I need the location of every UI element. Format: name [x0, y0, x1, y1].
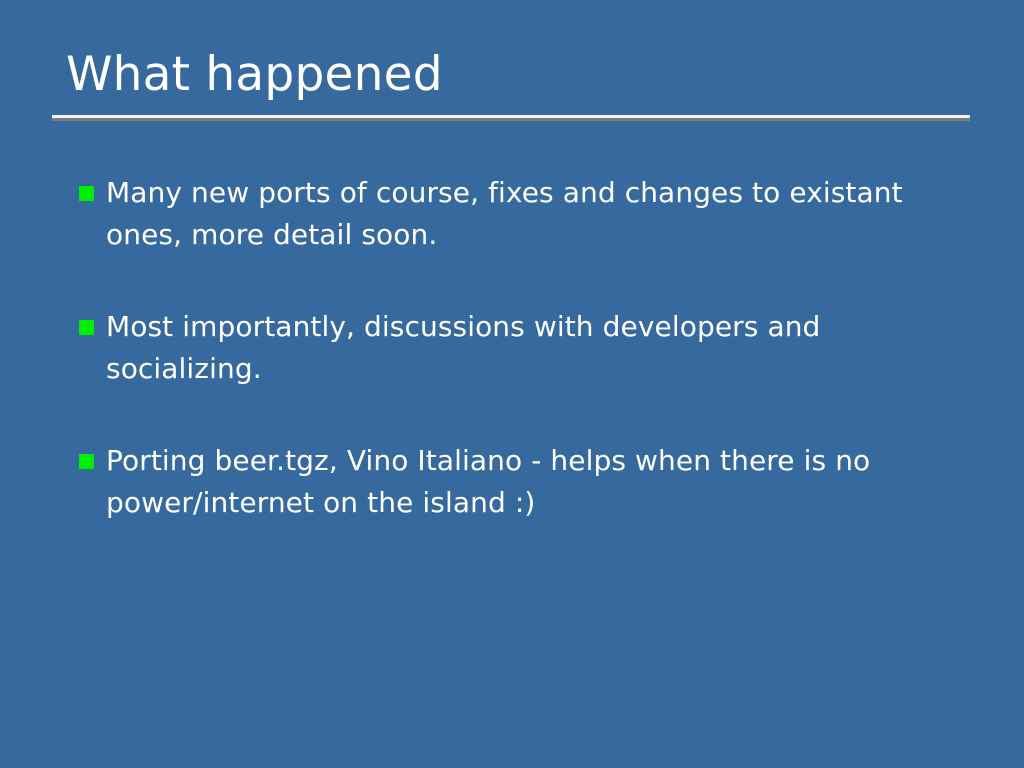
bullet-list: Many new ports of course, fixes and chan…: [76, 172, 956, 524]
presentation-slide: What happened Many new ports of course, …: [0, 0, 1024, 768]
list-item-label: Most importantly, discussions with devel…: [106, 306, 956, 390]
list-item-label: Porting beer.tgz, Vino Italiano - helps …: [106, 440, 956, 524]
list-item-label: Many new ports of course, fixes and chan…: [106, 172, 956, 256]
list-item: Many new ports of course, fixes and chan…: [76, 172, 956, 256]
green-square-bullet-icon: [79, 454, 94, 469]
slide-title-block: What happened: [52, 44, 970, 106]
divider-shadow-line: [52, 118, 970, 121]
green-square-bullet-icon: [79, 320, 94, 335]
green-square-bullet-icon: [79, 186, 94, 201]
list-item: Most importantly, discussions with devel…: [76, 306, 956, 390]
page-title: What happened: [52, 44, 970, 106]
title-divider: [52, 115, 970, 121]
list-item: Porting beer.tgz, Vino Italiano - helps …: [76, 440, 956, 524]
